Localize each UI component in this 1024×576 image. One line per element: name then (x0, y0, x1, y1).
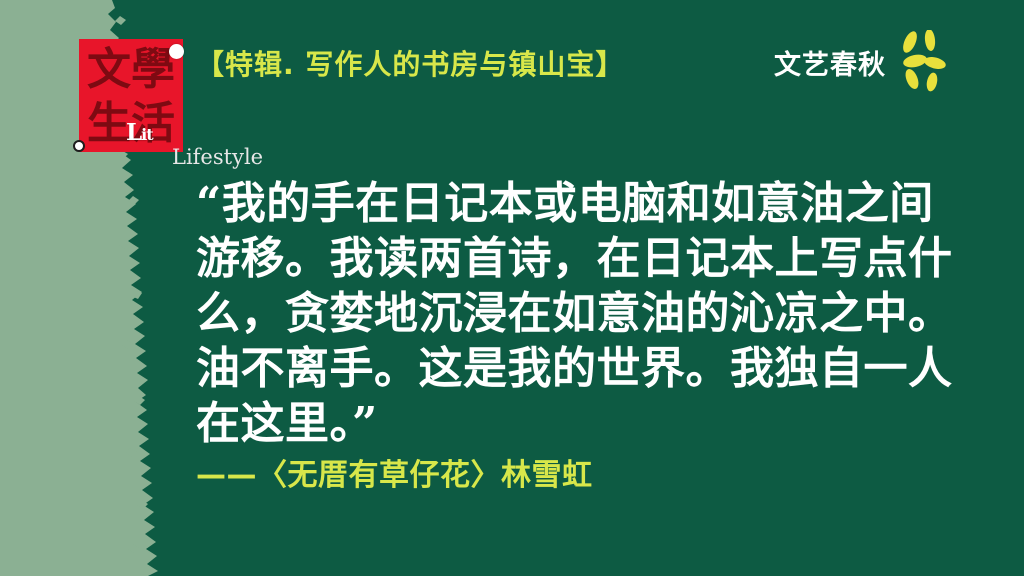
quote-line: 游移。我读两首诗，在日记本上写点什 (196, 231, 956, 286)
quote-text: “我的手在日记本或电脑和如意油之间 游移。我读两首诗，在日记本上写点什 么，贪婪… (196, 176, 956, 451)
petal-burst-icon (888, 30, 948, 92)
logo-dot-top-right (169, 44, 184, 59)
quote-attribution: ——〈无厝有草仔花〉林雪虹 (196, 458, 593, 494)
logo-lifestyle-wordmark: Lifestyle (172, 147, 263, 168)
quote-line: 么，贪婪地沉浸在如意油的沁凉之中。 (196, 286, 956, 341)
brand-name: 文艺春秋 (774, 51, 886, 81)
logo-lit-rest: it (141, 125, 152, 144)
quote-line: “我的手在日记本或电脑和如意油之间 (196, 176, 956, 231)
logo[interactable]: 文學 生活 Lit Lifestyle (79, 39, 183, 152)
logo-dot-bottom-left (73, 140, 85, 152)
logo-lit-initial: L (126, 119, 141, 146)
headline-title: 【特辑. 写作人的书房与镇山宝】 (196, 48, 624, 82)
quote-line: 油不离手。这是我的世界。我独自一人 (196, 341, 956, 396)
quote-line: 在这里。” (196, 396, 956, 451)
logo-lit-wordmark: Lit (126, 121, 153, 144)
quote-card: 文學 生活 Lit Lifestyle 【特辑. 写作人的书房与镇山宝】 文艺春… (0, 0, 1024, 576)
